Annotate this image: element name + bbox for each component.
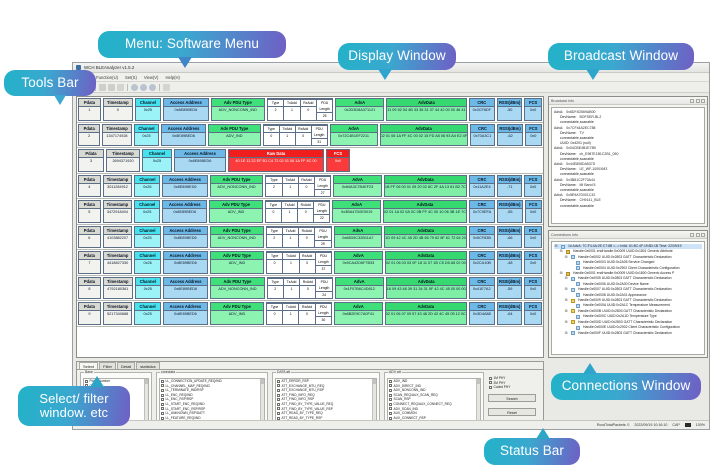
packet-cell-value: ADV_IND	[210, 209, 262, 222]
packet-cell[interactable]: FCS 0x0	[524, 277, 542, 300]
minimize-icon[interactable]	[690, 233, 694, 237]
window-controls[interactable]	[690, 99, 705, 103]
packet-cell-header: Pdata	[79, 278, 100, 286]
packet-subcol-header: TxAdd	[283, 228, 298, 235]
adva-label: AdvA:	[554, 126, 563, 130]
filter-actions: 1M PHY 2M PHY Coded PHY Search Reset	[488, 372, 536, 425]
status-indicator-badge	[685, 423, 691, 427]
packet-cell-value: 9	[79, 311, 100, 324]
packet-cell[interactable]: Pdata 6	[78, 226, 101, 249]
packet-cell[interactable]: Adv PDU Type ADV_NONCONN_IND	[210, 226, 264, 249]
packet-cell[interactable]: Timestamp 3011284912	[103, 175, 133, 198]
table-row[interactable]: Pdata 9 Timestamp 5217340688 Channel 0x2…	[77, 301, 543, 327]
window-controls[interactable]	[690, 233, 705, 237]
packet-cell[interactable]: Timestamp 4792180361	[103, 277, 133, 300]
packet-cell-header: Pdata	[79, 176, 100, 184]
packet-cell[interactable]: Access Address 0x8E89BED6	[161, 124, 205, 147]
packet-subcol: PDU Length 31	[311, 126, 327, 146]
packet-cell[interactable]: Pdata 3	[78, 149, 104, 172]
packet-cell-header: Pdata	[79, 125, 99, 133]
checkbox-icon[interactable]	[161, 403, 164, 406]
packet-cell[interactable]: Timestamp 4103882207	[103, 226, 133, 249]
packet-cell[interactable]: Pdata 7	[78, 251, 101, 274]
checkbox-icon[interactable]	[389, 412, 392, 415]
packet-subcol: PDU Length 22	[313, 202, 329, 222]
minimize-icon[interactable]	[690, 99, 694, 103]
checkbox-icon[interactable]	[277, 398, 280, 401]
packet-cell[interactable]: Pdata 8	[78, 277, 101, 300]
filter-tab[interactable]: Filter	[99, 362, 116, 369]
packet-cell[interactable]: CRC 0x70A3C1	[470, 124, 496, 147]
packet-cell-value: 4	[79, 184, 100, 197]
checkbox-icon[interactable]	[389, 403, 392, 406]
checkbox-icon[interactable]	[161, 394, 164, 397]
packet-cell-value: 0x26	[135, 184, 159, 197]
packet-subcol-value: 25	[317, 113, 332, 120]
search-button[interactable]: Search	[488, 394, 536, 402]
table-row[interactable]: Pdata 4 Timestamp 3011284912 Channel 0x2…	[77, 174, 543, 200]
packet-cell[interactable]: AdvA 0x72C4B1EF2211	[330, 124, 378, 147]
packet-cell[interactable]: CRC 0x5CF83B	[469, 226, 495, 249]
packet-cell[interactable]: RSSI(dBm) -50	[497, 98, 522, 121]
filter-tab[interactable]: Select	[79, 362, 98, 369]
filter-tab[interactable]: Detail	[117, 362, 135, 369]
filter-tab[interactable]: statistics	[136, 362, 159, 369]
checkbox-icon[interactable]	[277, 403, 280, 406]
advatt-filter-list[interactable]: ADV_IND ADV_DIRECT_IND ADV_NONCONN_IND S…	[387, 378, 481, 422]
packet-cell-group[interactable]: Adv PDU Header Type 0 TxAdd 1 RxAdd 0 PD…	[263, 124, 328, 147]
scrollbar-thumb[interactable]	[477, 379, 481, 384]
packet-subcol-value: 0	[267, 311, 282, 324]
packet-cell-value: 0x0	[525, 184, 541, 197]
checkbox-icon[interactable]	[161, 407, 164, 410]
packet-cell[interactable]: Channel 0x25	[142, 149, 172, 172]
checkbox-icon[interactable]	[389, 384, 392, 387]
packet-cell[interactable]: CRC 0x3CF8DF	[469, 98, 495, 121]
packet-cell[interactable]: FCS 0x0	[524, 226, 542, 249]
packet-subcol-value: 0	[299, 311, 314, 324]
packet-subcol: Type 2	[268, 100, 283, 120]
expand-toggle-icon[interactable]	[569, 314, 573, 319]
broadcast-window[interactable]: Broadcast Info AdvA: 0x6DF4D569AB00 DevN…	[548, 96, 708, 227]
packet-cell[interactable]: AdvData 02 01 1A 02 0A 0C 0B FF 4C 00 10…	[383, 200, 467, 223]
packet-subcol-header: RxAdd	[301, 100, 316, 107]
expand-toggle-icon[interactable]: ⊞	[564, 309, 568, 314]
scrollbar-thumb[interactable]	[261, 379, 265, 384]
packet-subcol: TxAdd 1	[282, 253, 298, 273]
packet-cell-header: Timestamp	[107, 150, 139, 158]
connections-tree[interactable]: ⊞ 1# AdvA: 7C:F4:4A:2E:C7:8B <--> InitA:…	[551, 241, 705, 355]
checkbox-icon[interactable]	[389, 394, 392, 397]
packet-cell[interactable]: Adv PDU Type ADV_NONCONN_IND	[210, 277, 264, 300]
expand-toggle-icon[interactable]: ⊞	[564, 298, 568, 303]
packet-subcol-header: TxAdd	[283, 304, 298, 311]
adva-value: 0x3B81C2F70A44	[564, 178, 595, 182]
settings-gear-icon[interactable]	[131, 84, 138, 91]
menu-item-view[interactable]: View(V)	[144, 75, 159, 80]
packet-cell[interactable]: Channel 0x26	[134, 175, 160, 198]
attr-icon	[576, 293, 580, 297]
packet-cell-header: Access Address	[162, 125, 204, 133]
packet-cell[interactable]: AdvData 02 01 06 1A FF 4C 00 02 15 FD A5…	[380, 124, 468, 147]
packet-cell-header: RSSI(dBm)	[498, 227, 521, 235]
packet-cell[interactable]: AdvData 02 01 06 07 09 57 43 48 2D 42 4C…	[385, 302, 467, 325]
checkbox-icon[interactable]	[489, 386, 492, 389]
checkbox-icon[interactable]	[85, 380, 88, 383]
checkbox-icon[interactable]	[389, 407, 392, 410]
screenshot-root: WCH BLEAnalyzer v1.5.2 File(F) Function(…	[0, 0, 720, 471]
filter-group-advatt: ADV att ADV_IND ADV_DIRECT_IND ADV_NONCO…	[384, 372, 484, 425]
broadcast-window-title-bar: Broadcast Info	[549, 97, 707, 105]
tools-bar[interactable]	[73, 82, 709, 93]
tree-row[interactable]: ⊞ Handle:0x000F UUID:0x2803 GATT Charact…	[554, 331, 702, 336]
packet-cell-group[interactable]: Adv PDU Header Type 2 TxAdd 1 RxAdd 0 PD…	[266, 226, 332, 249]
checkbox-icon[interactable]	[389, 398, 392, 401]
packet-cell[interactable]: FCS 0x0	[525, 124, 542, 147]
packet-cell-value: -66	[498, 235, 521, 248]
adva-value: 0x5E9A7D001C32	[564, 193, 595, 197]
packet-cell[interactable]: RSSI(dBm) -71	[497, 175, 522, 198]
packet-cell[interactable]: Access Address 0x8E89BED6	[163, 226, 208, 249]
app-title: WCH BLEAnalyzer v1.5.2	[84, 65, 134, 70]
broadcast-list[interactable]: AdvA: 0x6DF4D569AB00 DevName: BOFSER-BL2…	[551, 107, 705, 224]
packet-cell-value: 0x41E7A2	[470, 286, 494, 299]
packet-subcol: PDU Length 25	[316, 100, 332, 120]
expand-toggle-icon[interactable]: ⊞	[564, 320, 568, 325]
packet-table[interactable]: Pdata 1 Timestamp 0 Channel 0x25 Access …	[77, 97, 543, 327]
packet-cell[interactable]: Channel 0x25	[134, 200, 160, 223]
menu-item-set[interactable]: Set(S)	[125, 75, 137, 80]
packet-cell[interactable]: Raw Data 40 1E 11 22 EF B1 C4 72 02 01 0…	[228, 149, 324, 172]
packet-cell[interactable]: FCS 0x0	[524, 98, 542, 121]
packet-cell[interactable]: Timestamp 2694371920	[106, 149, 140, 172]
filter-group-dataatt-legend: DATA att	[276, 370, 291, 374]
packet-cell[interactable]: AdvData 1D 09 42 4C 45 2D 4B 65 79 62 6F…	[384, 226, 467, 249]
packet-cell-value: 0x72C4B1EF2211	[331, 133, 377, 146]
scrollbar[interactable]	[144, 379, 148, 421]
packet-cell[interactable]: FCS 0x0	[524, 302, 542, 325]
packet-cell-value: 0x8E89BED6	[163, 184, 206, 197]
connections-window[interactable]: Connections Info ⊞ 1# AdvA: 7C:F4:4A:2E:…	[548, 230, 708, 358]
conndata-filter-list[interactable]: LL_CONNECTION_UPDATE_REQ/IND LL_CHANNEL_…	[159, 378, 265, 422]
select-filter-window[interactable]: SelectFilterDetailstatistics Base Pdata …	[76, 361, 544, 427]
packet-subcol-value: 2	[268, 286, 283, 299]
packet-subcol: RxAdd 0	[298, 177, 314, 197]
packet-cell-header: Access Address	[164, 227, 207, 235]
table-row[interactable]: Pdata 2 Timestamp 1347174928 Channel 0x2…	[77, 123, 543, 149]
checkbox-icon[interactable]	[277, 380, 280, 383]
packet-cell[interactable]: CRC 0x3D4A88	[469, 302, 495, 325]
attr-icon	[571, 255, 575, 259]
expand-toggle-icon[interactable]: ⊞	[564, 276, 568, 281]
menu-item-help[interactable]: Help(H)	[165, 75, 179, 80]
packet-cell[interactable]: Pdata 9	[78, 302, 101, 325]
packet-cell[interactable]: Timestamp 5217340688	[103, 302, 133, 325]
packet-cell[interactable]: CRC 0x7C9EFA	[469, 200, 495, 223]
packet-cell-value: 0x2D3D8A371121	[336, 107, 383, 120]
packet-cell[interactable]: Access Address 0x8E89BED6	[163, 98, 209, 121]
attr-icon	[576, 282, 580, 286]
packet-cell[interactable]: RSSI(dBm) -66	[497, 226, 522, 249]
packet-subcol: RxAdd 0	[299, 279, 315, 299]
attr-icon	[576, 261, 580, 265]
packet-cell[interactable]: AdvA 0x1F07B6C4D812	[335, 277, 384, 300]
dataatt-filter-list[interactable]: ATT_ERROR_RSP ATT_EXCHANGE_MTU_REQ ATT_E…	[275, 378, 377, 422]
phy-checkbox-group[interactable]: 1M PHY 2M PHY Coded PHY	[488, 376, 536, 390]
callout-tail	[586, 69, 600, 80]
table-row[interactable]: Pdata 8 Timestamp 4792180361 Channel 0x2…	[77, 276, 543, 302]
connect-icon[interactable]	[149, 84, 156, 91]
checkbox-icon[interactable]	[277, 384, 280, 387]
checkbox-icon[interactable]	[489, 377, 492, 380]
packet-cell-header: AdvData	[386, 252, 466, 260]
packet-cell[interactable]: RSSI(dBm) -48	[497, 251, 522, 274]
packet-cell[interactable]: Channel 0x25	[135, 277, 161, 300]
close-icon[interactable]	[701, 233, 705, 237]
packet-cell-value: ADV_NONCONN_IND	[212, 107, 264, 120]
packet-cell-header: FCS	[526, 125, 541, 133]
maximize-icon[interactable]	[696, 99, 700, 103]
packet-cell-value: 0	[104, 107, 132, 120]
packet-cell-value: 0x25	[136, 107, 160, 120]
packet-cell[interactable]: Access Address 0x8E89BED6	[163, 302, 208, 325]
packet-cell[interactable]: Adv PDU Type ADV_IND	[210, 302, 264, 325]
display-window[interactable]: Pdata 1 Timestamp 0 Channel 0x25 Access …	[76, 96, 544, 358]
packet-cell[interactable]: Access Address 0x8E89BED6	[163, 277, 208, 300]
checkbox-icon[interactable]	[277, 394, 280, 397]
table-row[interactable]: Pdata 3 Timestamp 2694371920 Channel 0x2…	[77, 148, 543, 174]
packet-cell[interactable]: CRC 0x2CA10B	[469, 251, 495, 274]
attr-icon	[571, 331, 575, 335]
maximize-icon[interactable]	[696, 233, 700, 237]
packet-cell[interactable]: Access Address 0x8E89BED6	[162, 175, 207, 198]
checkbox-icon[interactable]	[161, 412, 164, 415]
packet-subcol-value: 0	[299, 235, 314, 248]
packet-cell[interactable]: Pdata 4	[78, 175, 101, 198]
scrollbar[interactable]	[476, 379, 480, 421]
packet-subcol-header: Type	[267, 253, 282, 260]
expand-toggle-icon[interactable]	[569, 325, 573, 330]
packet-cell-header: Pdata	[79, 252, 100, 260]
packet-cell-group[interactable]: Adv PDU Header Type 2 TxAdd 1 RxAdd 0 PD…	[267, 277, 333, 300]
packet-subcol: PDU Length 37	[315, 253, 331, 273]
packet-cell[interactable]: Channel 0x25	[134, 124, 160, 147]
packet-cell-header: AdvA	[335, 303, 382, 311]
packet-cell[interactable]: AdvA 0x3BA47D0E0019	[332, 200, 380, 223]
packet-cell[interactable]: Adv PDU Type ADV_IND	[208, 124, 261, 147]
start-capture-icon[interactable]	[99, 84, 106, 91]
packet-cell[interactable]: Channel 0x25	[134, 302, 160, 325]
devname-value: ch_E987E1B1C2B1_050	[578, 152, 619, 156]
packet-cell-header: CRC	[470, 227, 494, 235]
expand-toggle-icon[interactable]	[569, 303, 573, 308]
packet-cell-header: Adv PDU Type	[210, 201, 262, 209]
packet-cell-group[interactable]: Adv PDU Header Type 0 TxAdd 1 RxAdd 0 PD…	[265, 200, 331, 223]
packet-cell[interactable]: FCS 0x0	[525, 200, 542, 223]
packet-cell[interactable]: RSSI(dBm) -59	[497, 277, 522, 300]
checkbox-icon[interactable]	[161, 398, 164, 401]
export-icon[interactable]	[163, 84, 170, 91]
expand-toggle-icon[interactable]	[569, 282, 573, 287]
scrollbar[interactable]	[372, 379, 376, 421]
packet-cell-group[interactable]: Adv PDU Header Type 2 TxAdd 1 RxAdd 0 PD…	[265, 175, 331, 198]
checkbox-icon[interactable]	[161, 384, 164, 387]
packet-cell-value: 0x8E89BED6	[164, 286, 207, 299]
stop-capture-icon[interactable]	[108, 84, 115, 91]
expand-toggle-icon[interactable]: ⊞	[559, 271, 563, 276]
checkbox-icon[interactable]	[389, 389, 392, 392]
packet-cell-header: Channel	[135, 125, 159, 133]
attr-icon	[576, 315, 580, 319]
packet-cell[interactable]: FCS 0x0	[326, 149, 350, 172]
expand-toggle-icon[interactable]: ⊞	[564, 287, 568, 292]
packet-cell[interactable]: Adv PDU Type ADV_IND	[209, 200, 263, 223]
packet-subcol-value: 0	[299, 184, 314, 197]
checkbox-icon[interactable]	[277, 389, 280, 392]
packet-cell-header: FCS	[525, 176, 541, 184]
packet-cell[interactable]: Timestamp 3472918404	[103, 200, 133, 223]
scrollbar[interactable]	[260, 379, 264, 421]
packet-cell[interactable]: AdvData 02 01 06 03 03 0F 18 11 07 1B C5…	[385, 251, 467, 274]
packet-cell-value: 3011284912	[104, 184, 132, 197]
callout-menu: Menu: Software Menu	[98, 31, 286, 58]
callout-tail	[583, 363, 597, 374]
packet-cell[interactable]: Adv PDU Type ADV_IND	[210, 251, 264, 274]
packet-cell[interactable]: Channel 0x25	[134, 226, 160, 249]
filter-group-base-legend: Base	[84, 370, 94, 374]
packet-cell-header: CRC	[471, 125, 495, 133]
expand-toggle-icon[interactable]: ⊞	[564, 331, 568, 336]
packet-cell[interactable]: AdvData 16 09 43 48 39 31 34 31 5F 42 4C…	[386, 277, 467, 300]
packet-cell[interactable]: AdvA 0x6B2E9C7A0F41	[334, 302, 383, 325]
adva-value: 0x6DF4D569AB00	[564, 110, 595, 114]
adva-label: AdvA:	[554, 178, 563, 182]
packet-cell-header: RSSI(dBm)	[498, 176, 521, 184]
close-icon[interactable]	[701, 99, 705, 103]
packet-cell[interactable]: Timestamp 4418827330	[103, 251, 133, 274]
packet-cell[interactable]: RSSI(dBm) -64	[497, 302, 522, 325]
expand-toggle-icon[interactable]: ⊞	[559, 249, 563, 254]
packet-cell[interactable]: AdvA 0x9CA42D6F7B33	[334, 251, 383, 274]
callout-tools-bar: Tools Bar	[4, 70, 96, 96]
packet-subcol: RxAdd 0	[295, 126, 311, 146]
packet-cell[interactable]: FCS 0x0	[524, 251, 542, 274]
reset-button[interactable]: Reset	[488, 408, 536, 416]
packet-subcol-header: RxAdd	[299, 228, 314, 235]
packet-cell[interactable]: AdvData 1B FF 06 00 01 09 20 02 8C 2F 4A…	[384, 175, 467, 198]
packet-cell-header: Adv PDU Type	[211, 252, 263, 260]
scrollbar-thumb[interactable]	[145, 379, 149, 384]
packet-cell[interactable]: Timestamp 0	[103, 98, 133, 121]
packet-cell-header: RSSI(dBm)	[498, 252, 521, 260]
table-row[interactable]: Pdata 7 Timestamp 4418827330 Channel 0x2…	[77, 250, 543, 276]
packet-cell-value: 0x8E89BED6	[164, 260, 207, 273]
devname-label: DevName:	[560, 152, 577, 156]
packet-cell[interactable]: Pdata 5	[78, 200, 101, 223]
packet-cell-header: Timestamp	[104, 303, 132, 311]
packet-cell[interactable]: AdvA 0x2D3D8A371121	[335, 98, 384, 121]
packet-cell-value: -50	[498, 107, 521, 120]
packet-cell[interactable]: CRC 0x41E7A2	[469, 277, 495, 300]
packet-cell-value: 11 09 52 54 4B 33 36 31 37 44 42 00 00 4…	[387, 107, 465, 120]
packet-cell-value: 0x5CF83B	[470, 235, 494, 248]
checkbox-icon[interactable]	[161, 380, 164, 383]
packet-cell-header: AdvA	[335, 227, 382, 235]
packet-cell-header: Timestamp	[104, 201, 132, 209]
expand-toggle-icon[interactable]: ⊞	[554, 244, 558, 249]
checkbox-icon[interactable]	[161, 389, 164, 392]
packet-cell-header: Timestamp	[104, 99, 132, 107]
checkbox-icon[interactable]	[389, 380, 392, 383]
packet-cell[interactable]: Access Address 0x8E89BED6	[162, 200, 207, 223]
packet-cell[interactable]: Pdata 2	[78, 124, 100, 147]
packet-cell-value: 5217340688	[104, 311, 132, 324]
packet-cell-header: AdvA	[331, 125, 377, 133]
packet-subcol-value: 1	[283, 311, 298, 324]
packet-cell[interactable]: Pdata 1	[78, 98, 101, 121]
packet-cell-header: AdvA	[336, 99, 383, 107]
packet-cell[interactable]: Timestamp 1347174928	[102, 124, 131, 147]
phy-checkbox-item[interactable]: Coded PHY	[488, 385, 536, 390]
packet-cell-value: 0x0	[525, 107, 541, 120]
packet-cell[interactable]: AdvA 0x84A3C7B4EF23	[333, 175, 382, 198]
packet-cell[interactable]: Channel 0x25	[135, 98, 161, 121]
packet-subcol: TxAdd 1	[279, 126, 295, 146]
packet-cell[interactable]: Adv PDU Type ADV_NONCONN_IND	[210, 175, 264, 198]
packet-cell-value: 0x9CA42D6F7B33	[335, 260, 382, 273]
checkbox-icon[interactable]	[277, 407, 280, 410]
packet-cell[interactable]: FCS 0x0	[524, 175, 542, 198]
table-row[interactable]: Pdata 5 Timestamp 3472918404 Channel 0x2…	[77, 199, 543, 225]
packet-cell[interactable]: AdvA 0x68D5C32B11A7	[334, 226, 383, 249]
warn-icon	[571, 309, 575, 313]
packet-cell-value: 0x8E89BED6	[164, 235, 207, 248]
packet-cell-value: 0x3D4A88	[470, 311, 494, 324]
packet-cell-group[interactable]: Adv PDU Header Type 0 TxAdd 1 RxAdd 0 PD…	[266, 251, 332, 274]
packet-cell-header: RSSI(dBm)	[498, 125, 521, 133]
packet-cell[interactable]: Access Address 0x8E89BED6	[163, 251, 208, 274]
checkbox-icon[interactable]	[489, 381, 492, 384]
checkbox-icon[interactable]	[277, 412, 280, 415]
packet-cell-header: Pdata	[79, 150, 103, 158]
devname-value: BOFSER-BL2	[578, 115, 602, 119]
expand-toggle-icon[interactable]	[569, 293, 573, 298]
packet-cell-header: AdvData	[387, 278, 466, 286]
packet-cell-header: AdvData	[387, 99, 465, 107]
filter-icon[interactable]	[140, 84, 147, 91]
table-row[interactable]: Pdata 1 Timestamp 0 Channel 0x25 Access …	[77, 97, 543, 123]
menu-item-function[interactable]: Function(U)	[96, 75, 118, 80]
packet-cell[interactable]: Access Address 0x8E89BED6	[174, 149, 226, 172]
packet-cell[interactable]: CRC 0x11A2E4	[469, 175, 495, 198]
scrollbar-thumb[interactable]	[373, 379, 377, 384]
expand-toggle-icon[interactable]: ⊞	[564, 255, 568, 260]
packet-cell-value: 0x8E89BED6	[164, 311, 207, 324]
clear-icon[interactable]	[117, 84, 124, 91]
packet-cell[interactable]: Adv PDU Type ADV_NONCONN_IND	[211, 98, 265, 121]
packet-cell-group[interactable]: Adv PDU Header Type 0 TxAdd 1 RxAdd 0 PD…	[266, 302, 332, 325]
packet-cell-group[interactable]: Adv PDU Header Type 2 TxAdd 1 RxAdd 0 PD…	[267, 98, 333, 121]
packet-subcol-header: Type	[264, 126, 279, 133]
packet-cell-header: Channel	[136, 278, 160, 286]
filter-tabs[interactable]: SelectFilterDetailstatistics	[77, 362, 543, 370]
packet-cell[interactable]: Channel 0x26	[134, 251, 160, 274]
packet-cell[interactable]: RSSI(dBm) -55	[497, 200, 522, 223]
packet-cell[interactable]: RSSI(dBm) -62	[497, 124, 522, 147]
packet-cell[interactable]: AdvData 11 09 52 54 4B 33 36 31 37 44 42…	[386, 98, 466, 121]
table-row[interactable]: Pdata 6 Timestamp 4103882207 Channel 0x2…	[77, 225, 543, 251]
packet-subcol: PDU Length 29	[314, 228, 330, 248]
